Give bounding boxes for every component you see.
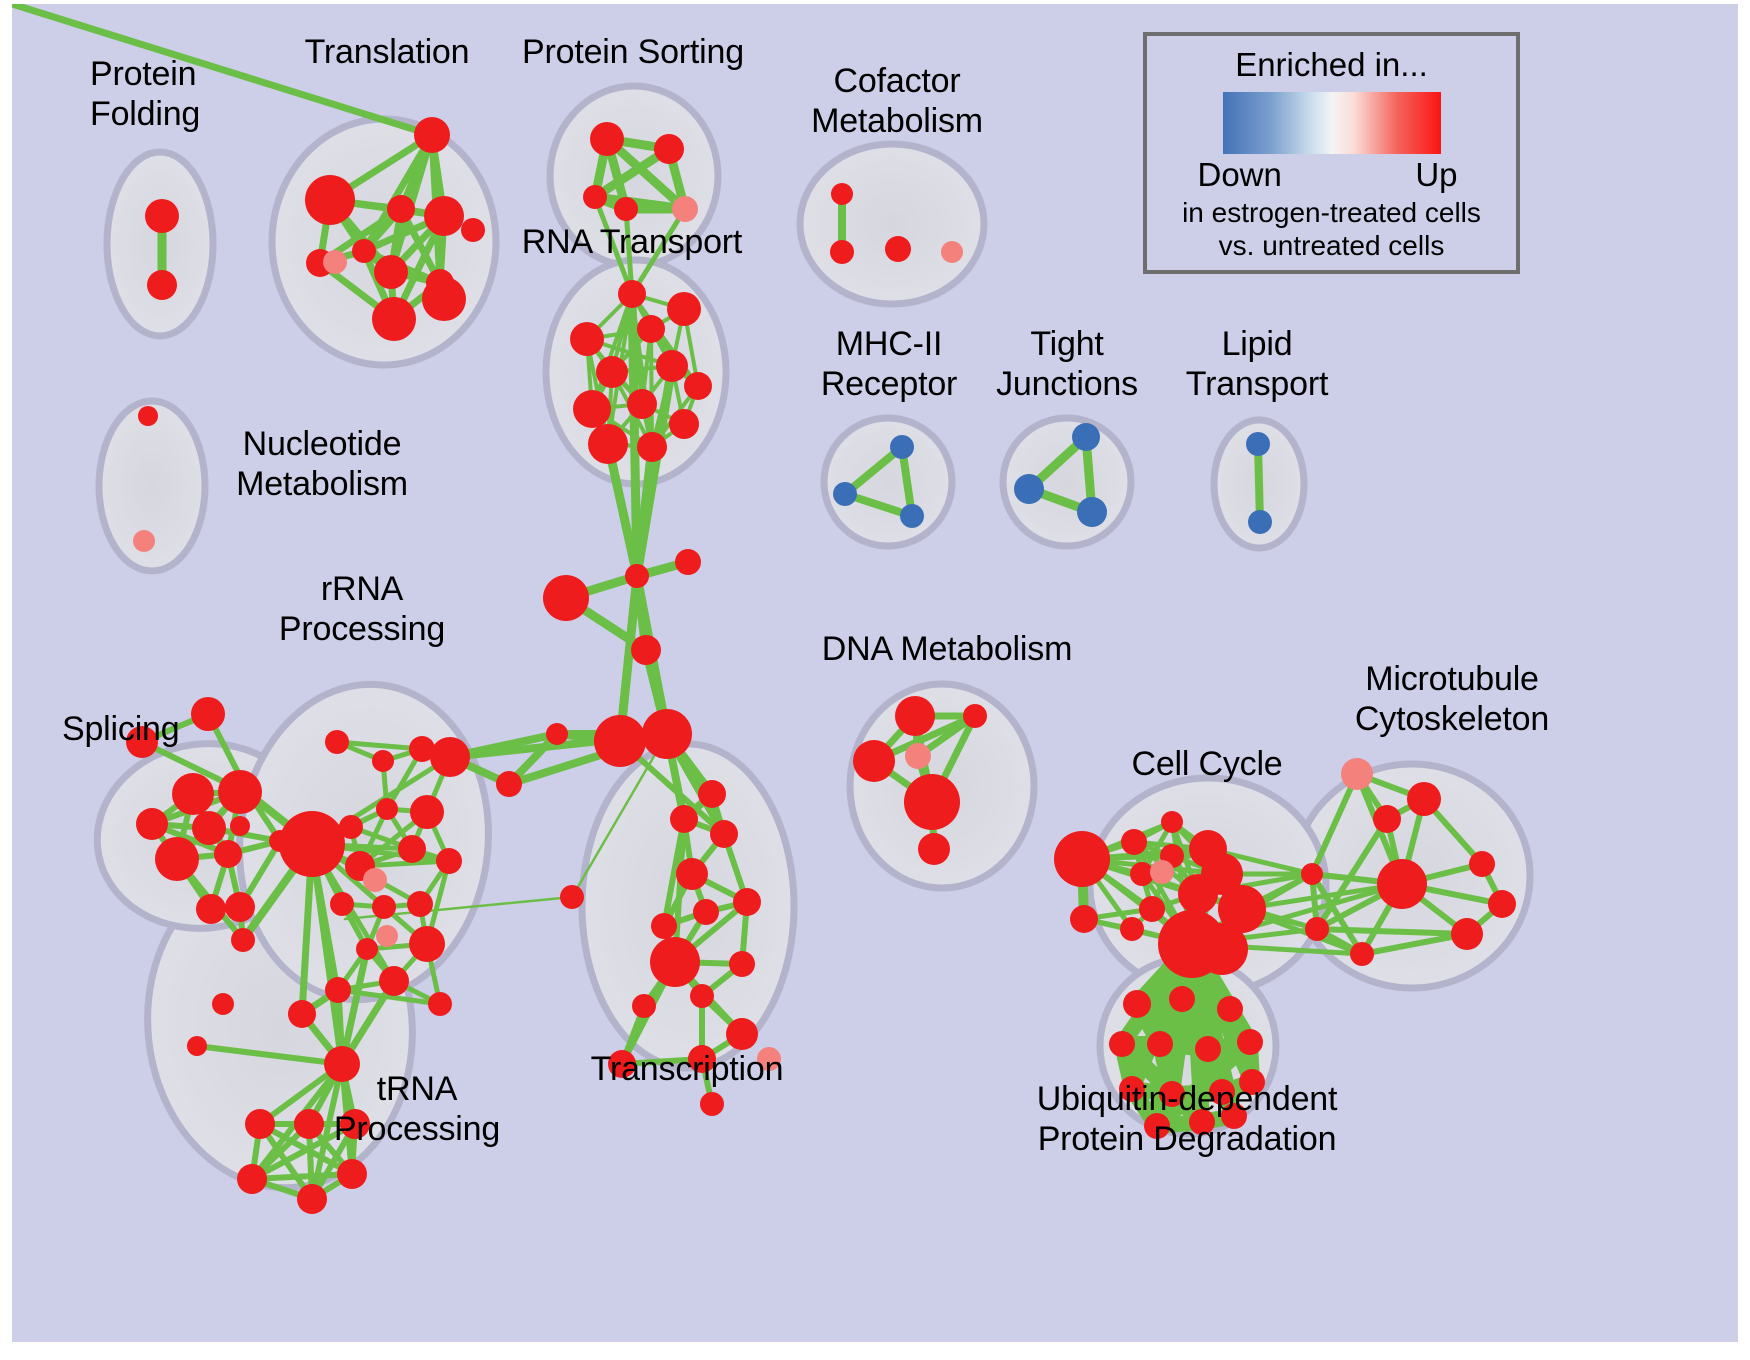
node xyxy=(684,372,712,400)
cluster-label-dna-metabolism: DNA Metabolism xyxy=(807,629,1087,669)
node xyxy=(387,195,415,223)
node xyxy=(833,482,857,506)
node xyxy=(409,926,445,962)
node xyxy=(669,409,699,439)
node xyxy=(1305,917,1329,941)
node xyxy=(1120,917,1144,941)
node xyxy=(422,277,466,321)
node xyxy=(1077,497,1107,527)
node xyxy=(618,280,646,308)
node xyxy=(676,858,708,890)
node xyxy=(187,1036,207,1056)
legend-high-label: Up xyxy=(1415,156,1457,194)
node xyxy=(654,134,684,164)
node xyxy=(372,297,416,341)
node xyxy=(904,774,960,830)
node-mid xyxy=(133,530,155,552)
node xyxy=(1169,986,1195,1012)
node xyxy=(650,937,700,987)
node xyxy=(698,780,726,808)
node xyxy=(356,938,378,960)
cluster-label-microtubule-cytoskeleton: Microtubule Cytoskeleton xyxy=(1302,659,1602,739)
node xyxy=(376,798,398,820)
node xyxy=(1246,432,1270,456)
node xyxy=(1350,942,1374,966)
legend-title: Enriched in... xyxy=(1147,46,1516,84)
node xyxy=(461,218,485,242)
cluster-label-mhc-ii-receptor: MHC-II Receptor xyxy=(794,324,984,404)
node xyxy=(632,994,656,1018)
node xyxy=(372,750,394,772)
legend-color-gradient-bar xyxy=(1223,92,1441,154)
node xyxy=(614,197,638,221)
figure-canvas: Protein Folding Translation Protein Sort… xyxy=(0,0,1750,1360)
node xyxy=(1377,859,1427,909)
cluster-label-rna-transport: RNA Transport xyxy=(502,222,762,262)
node xyxy=(398,835,426,863)
node xyxy=(496,771,522,797)
cluster-label-tight-junctions: Tight Junctions xyxy=(972,324,1162,404)
node xyxy=(963,704,987,728)
node xyxy=(690,984,714,1008)
cluster-label-protein-folding: Protein Folding xyxy=(90,54,230,134)
node xyxy=(1070,905,1098,933)
cluster-label-protein-sorting: Protein Sorting xyxy=(498,32,768,72)
node xyxy=(1195,1036,1221,1062)
legend-low-label: Down xyxy=(1198,156,1282,194)
node xyxy=(138,406,158,426)
node xyxy=(667,292,701,326)
node xyxy=(729,951,755,977)
node xyxy=(337,1159,367,1189)
node xyxy=(675,549,701,575)
node xyxy=(890,435,914,459)
legend-box: Enriched in... Down Up in estrogen-treat… xyxy=(1143,32,1520,274)
node xyxy=(656,350,688,382)
node xyxy=(372,895,396,919)
node xyxy=(546,723,568,745)
node xyxy=(918,833,950,865)
legend-endpoint-labels: Down Up xyxy=(1198,156,1466,194)
node-mid xyxy=(941,241,963,263)
node xyxy=(297,1184,327,1214)
node xyxy=(588,424,628,464)
node-mid xyxy=(672,196,698,222)
node-mid xyxy=(363,868,387,892)
node xyxy=(1373,805,1401,833)
node xyxy=(424,196,464,236)
cluster-label-nucleotide-metabolism: Nucleotide Metabolism xyxy=(207,424,437,504)
node xyxy=(1407,782,1441,816)
node xyxy=(573,390,611,428)
node xyxy=(1014,474,1044,504)
node xyxy=(594,715,646,767)
node xyxy=(700,1092,724,1116)
cluster-label-cell-cycle: Cell Cycle xyxy=(1102,744,1312,784)
legend-caption: in estrogen-treated cells vs. untreated … xyxy=(1147,196,1516,262)
node xyxy=(543,575,589,621)
cluster-label-ubiquitin-degradation: Ubiquitin-dependent Protein Degradation xyxy=(987,1079,1387,1159)
node xyxy=(325,730,349,754)
node-mid xyxy=(376,925,398,947)
cluster-label-cofactor-metabolism: Cofactor Metabolism xyxy=(787,61,1007,141)
node xyxy=(1072,423,1100,451)
node xyxy=(1139,896,1165,922)
node xyxy=(1451,918,1483,950)
node xyxy=(192,811,226,845)
node-mid xyxy=(1341,758,1373,790)
node xyxy=(214,840,242,868)
node xyxy=(196,894,226,924)
node xyxy=(625,564,649,588)
node xyxy=(145,199,179,233)
cluster-label-translation: Translation xyxy=(272,32,502,72)
node xyxy=(1109,1031,1135,1057)
node xyxy=(733,888,761,916)
node xyxy=(1196,923,1248,975)
node xyxy=(1301,863,1323,885)
node xyxy=(245,1109,275,1139)
cluster-label-transcription: Transcription xyxy=(567,1049,807,1089)
node xyxy=(670,805,698,833)
cluster-ellipse-mhc-ii-receptor xyxy=(824,418,952,546)
cluster-label-splicing: Splicing xyxy=(62,709,242,749)
node xyxy=(136,808,168,840)
node xyxy=(428,992,452,1016)
node xyxy=(212,993,234,1015)
node xyxy=(414,117,450,153)
node xyxy=(726,1018,758,1050)
node xyxy=(642,709,692,759)
cluster-ellipse-cofactor-metabolism xyxy=(800,144,984,304)
node xyxy=(583,185,607,209)
node xyxy=(230,816,250,836)
node xyxy=(374,255,408,289)
node xyxy=(172,773,214,815)
node xyxy=(895,696,935,736)
node xyxy=(1469,851,1495,877)
cluster-ellipse-transcription xyxy=(582,744,794,1068)
node xyxy=(352,239,376,263)
node xyxy=(560,885,584,909)
node xyxy=(288,1000,316,1028)
node xyxy=(430,737,470,777)
node xyxy=(693,899,719,925)
node xyxy=(637,315,665,343)
node xyxy=(218,770,262,814)
node xyxy=(1147,1031,1173,1057)
node xyxy=(1178,874,1218,914)
node-mid xyxy=(1150,860,1174,884)
node xyxy=(1161,811,1183,833)
node xyxy=(1054,831,1110,887)
node xyxy=(570,322,604,356)
node xyxy=(885,236,911,262)
node xyxy=(590,122,624,156)
node xyxy=(237,1164,267,1194)
node xyxy=(269,830,291,852)
node xyxy=(225,892,255,922)
node xyxy=(407,891,433,917)
node xyxy=(627,389,657,419)
node xyxy=(1248,510,1272,534)
node xyxy=(1217,996,1243,1022)
node-mid xyxy=(323,250,347,274)
node xyxy=(155,837,199,881)
node xyxy=(631,635,661,665)
node-mid xyxy=(905,743,931,769)
node xyxy=(1237,1029,1263,1055)
node xyxy=(305,175,355,225)
node xyxy=(1123,990,1151,1018)
node xyxy=(900,504,924,528)
node xyxy=(379,966,409,996)
cluster-label-rrna-processing: rRNA Processing xyxy=(262,569,462,649)
node xyxy=(651,913,677,939)
node xyxy=(147,270,177,300)
node xyxy=(831,183,853,205)
node xyxy=(637,432,667,462)
node xyxy=(830,240,854,264)
node xyxy=(1121,829,1147,855)
cluster-label-lipid-transport: Lipid Transport xyxy=(1162,324,1352,404)
node xyxy=(330,892,354,916)
node xyxy=(231,928,255,952)
node xyxy=(325,977,351,1003)
node xyxy=(1488,890,1516,918)
node xyxy=(410,795,444,829)
node xyxy=(853,740,895,782)
node xyxy=(436,848,462,874)
cluster-label-trna-processing: tRNA Processing xyxy=(302,1069,532,1149)
node xyxy=(596,356,628,388)
node xyxy=(710,820,738,848)
network-plot-area: Protein Folding Translation Protein Sort… xyxy=(12,4,1738,1342)
